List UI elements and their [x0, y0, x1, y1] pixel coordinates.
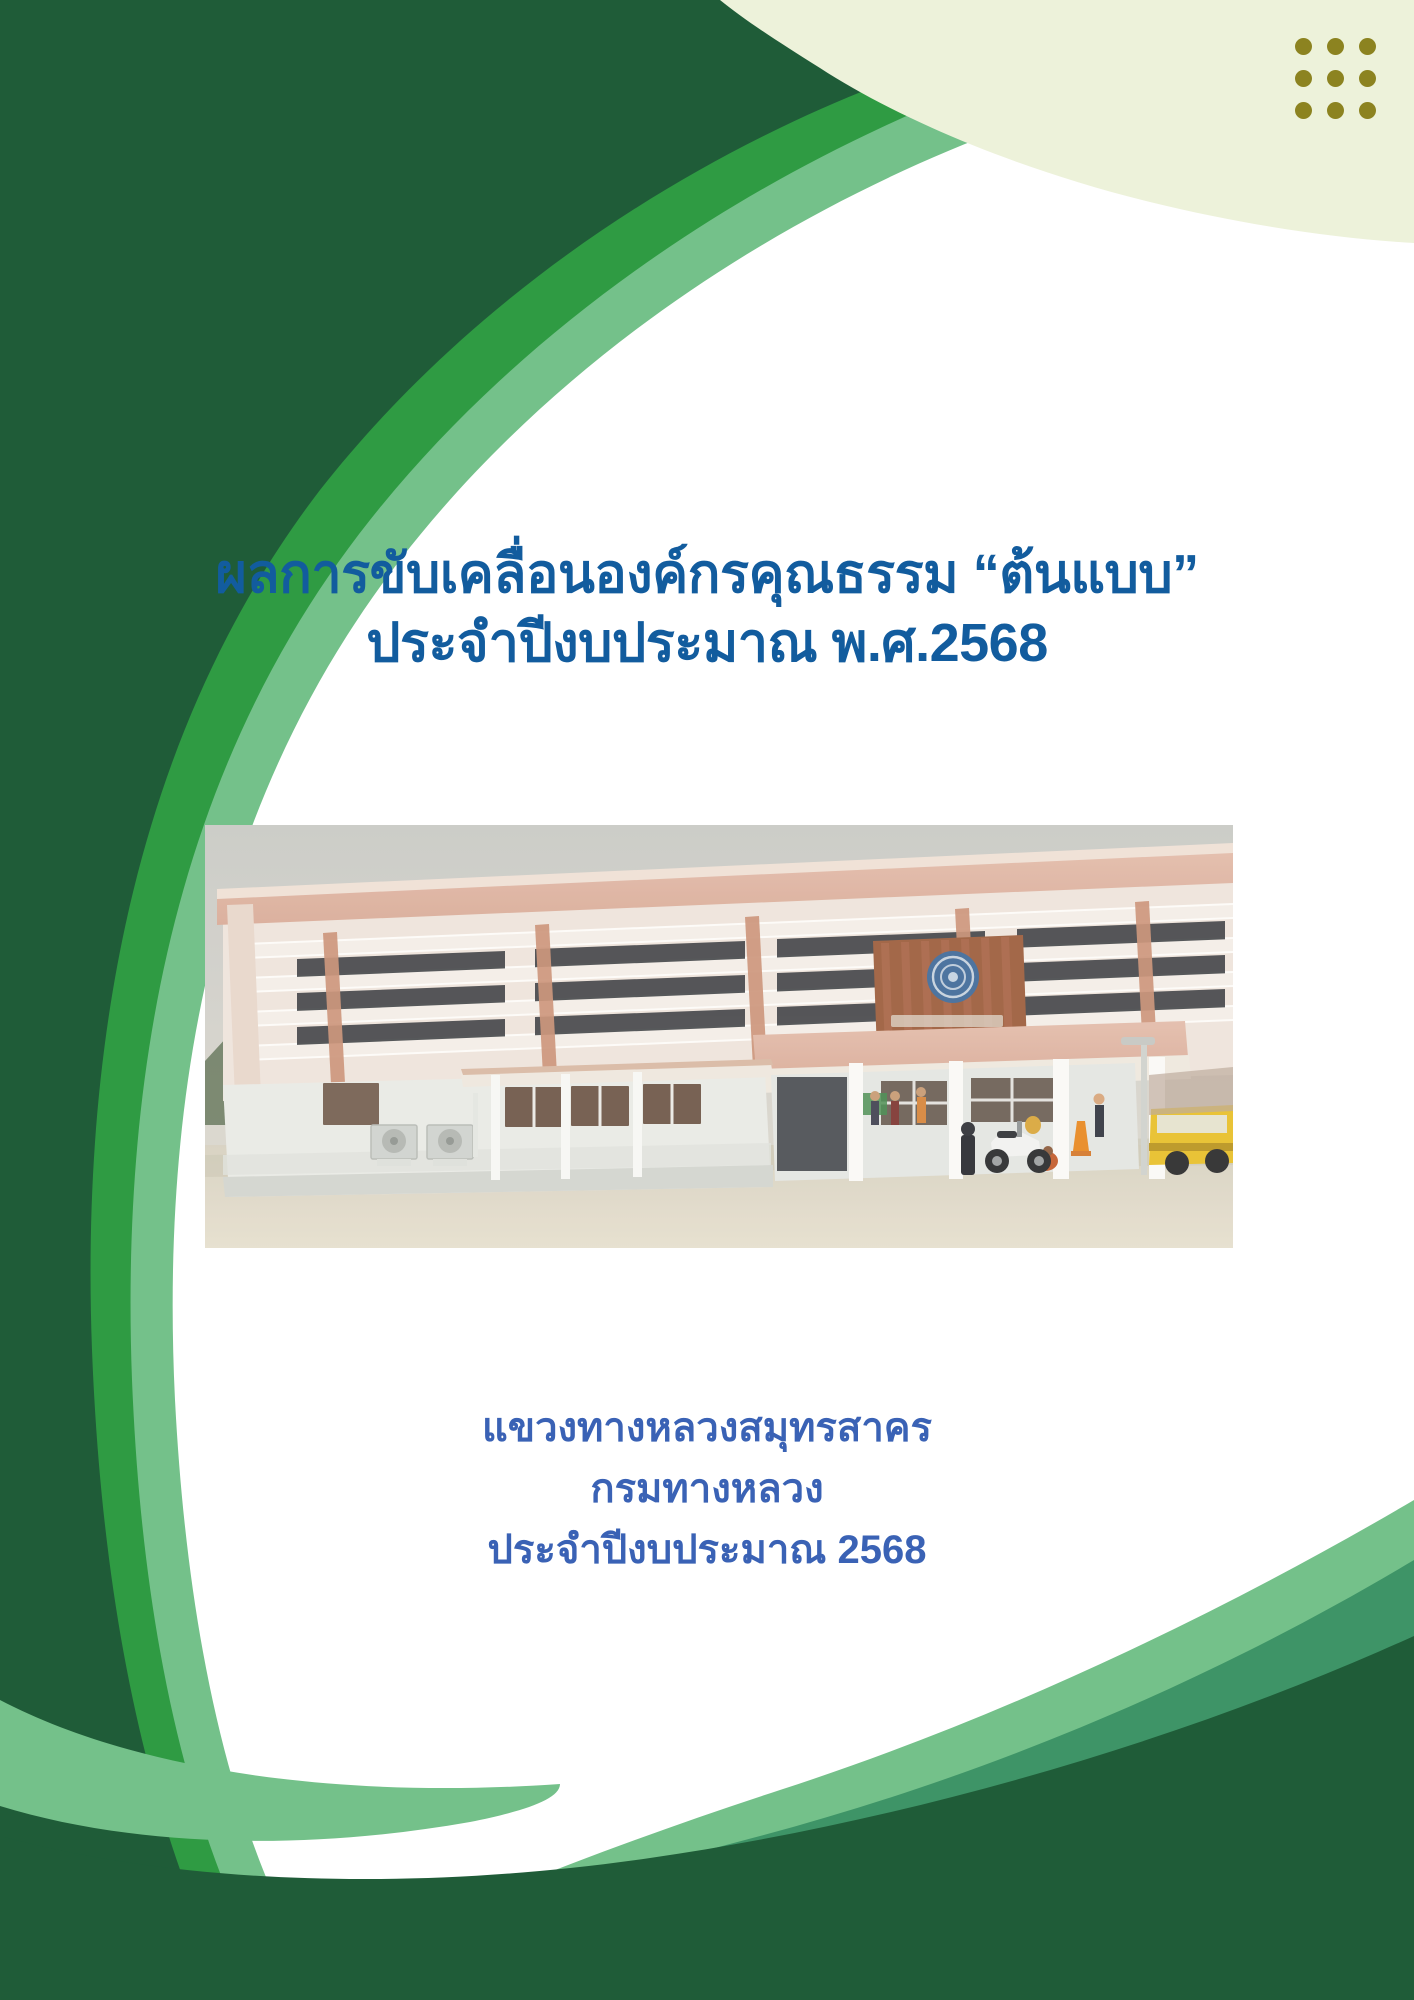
- title-line-2: ประจำปีงบประมาณ พ.ศ.2568: [0, 609, 1414, 678]
- grid-dot: [1359, 70, 1376, 87]
- grid-dot: [1327, 70, 1344, 87]
- grid-dot: [1327, 102, 1344, 119]
- grid-dot: [1327, 38, 1344, 55]
- footer-line-3: ประจำปีงบประมาณ 2568: [0, 1520, 1414, 1581]
- title-line-1: ผลการขับเคลื่อนองค์กรคุณธรรม “ต้นแบบ”: [0, 540, 1414, 609]
- grid-dot: [1295, 38, 1312, 55]
- photo-scene: [205, 825, 1233, 1248]
- cover-photograph: [205, 825, 1233, 1248]
- dot-grid-ornament: [1287, 30, 1383, 126]
- cover-page: ผลการขับเคลื่อนองค์กรคุณธรรม “ต้นแบบ” ปร…: [0, 0, 1414, 2000]
- grid-dot: [1359, 102, 1376, 119]
- cover-footer: แขวงทางหลวงสมุทรสาคร กรมทางหลวง ประจำปีง…: [0, 1398, 1414, 1580]
- grid-dot: [1359, 38, 1376, 55]
- footer-line-2: กรมทางหลวง: [0, 1459, 1414, 1520]
- grid-dot: [1295, 102, 1312, 119]
- grid-dot: [1295, 70, 1312, 87]
- cover-title: ผลการขับเคลื่อนองค์กรคุณธรรม “ต้นแบบ” ปร…: [0, 540, 1414, 678]
- footer-line-1: แขวงทางหลวงสมุทรสาคร: [0, 1398, 1414, 1459]
